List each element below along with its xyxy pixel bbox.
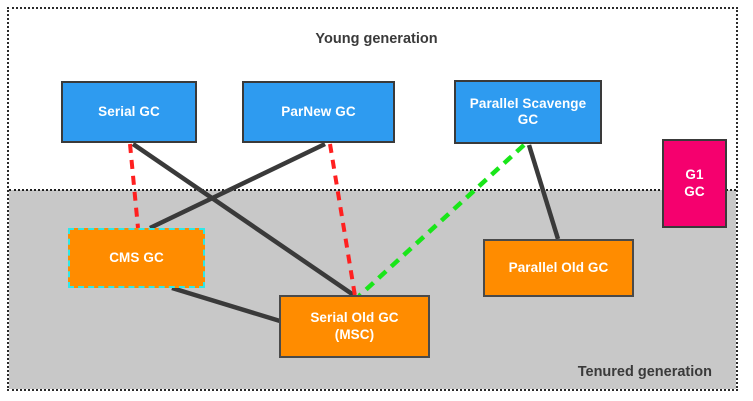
node-g1-gc-label-line2: GC <box>684 184 704 199</box>
node-serial-old-gc-label: Serial Old GC (MSC) <box>310 310 398 343</box>
node-serial-gc-label: Serial GC <box>98 104 160 120</box>
connector-cms-gc-to-serial-old-gc <box>172 288 280 321</box>
node-g1-gc-label: G1 GC <box>684 167 704 200</box>
connector-parnew-gc-to-serial-old-gc <box>330 144 355 296</box>
node-parallel-scavenge-gc-label: Parallel Scavenge GC <box>470 96 587 129</box>
node-cms-gc-label: CMS GC <box>109 250 164 266</box>
node-parnew-gc[interactable]: ParNew GC <box>242 81 395 143</box>
node-parallel-scavenge-gc-label-line1: Parallel Scavenge <box>470 96 587 111</box>
connector-parallel-scavenge-to-parallel-old-gc <box>529 145 558 239</box>
tenured-generation-label: Tenured generation <box>0 364 712 380</box>
node-serial-old-gc[interactable]: Serial Old GC (MSC) <box>279 295 430 358</box>
node-parallel-scavenge-gc-label-line2: GC <box>518 112 538 127</box>
node-serial-old-gc-label-line2: (MSC) <box>335 327 375 342</box>
young-generation-label: Young generation <box>0 31 753 47</box>
connector-serial-gc-to-cms-gc <box>130 144 138 228</box>
node-g1-gc[interactable]: G1 GC <box>662 139 727 228</box>
node-parallel-old-gc[interactable]: Parallel Old GC <box>483 239 634 297</box>
gc-combination-diagram: Young generation Tenured generation Seri… <box>0 0 753 401</box>
node-parallel-old-gc-label: Parallel Old GC <box>509 260 609 276</box>
node-cms-gc[interactable]: CMS GC <box>68 228 205 288</box>
node-serial-gc[interactable]: Serial GC <box>61 81 197 143</box>
node-parallel-scavenge-gc[interactable]: Parallel Scavenge GC <box>454 80 602 144</box>
node-parnew-gc-label: ParNew GC <box>281 104 355 120</box>
node-serial-old-gc-label-line1: Serial Old GC <box>310 310 398 325</box>
node-g1-gc-label-line1: G1 <box>685 167 703 182</box>
